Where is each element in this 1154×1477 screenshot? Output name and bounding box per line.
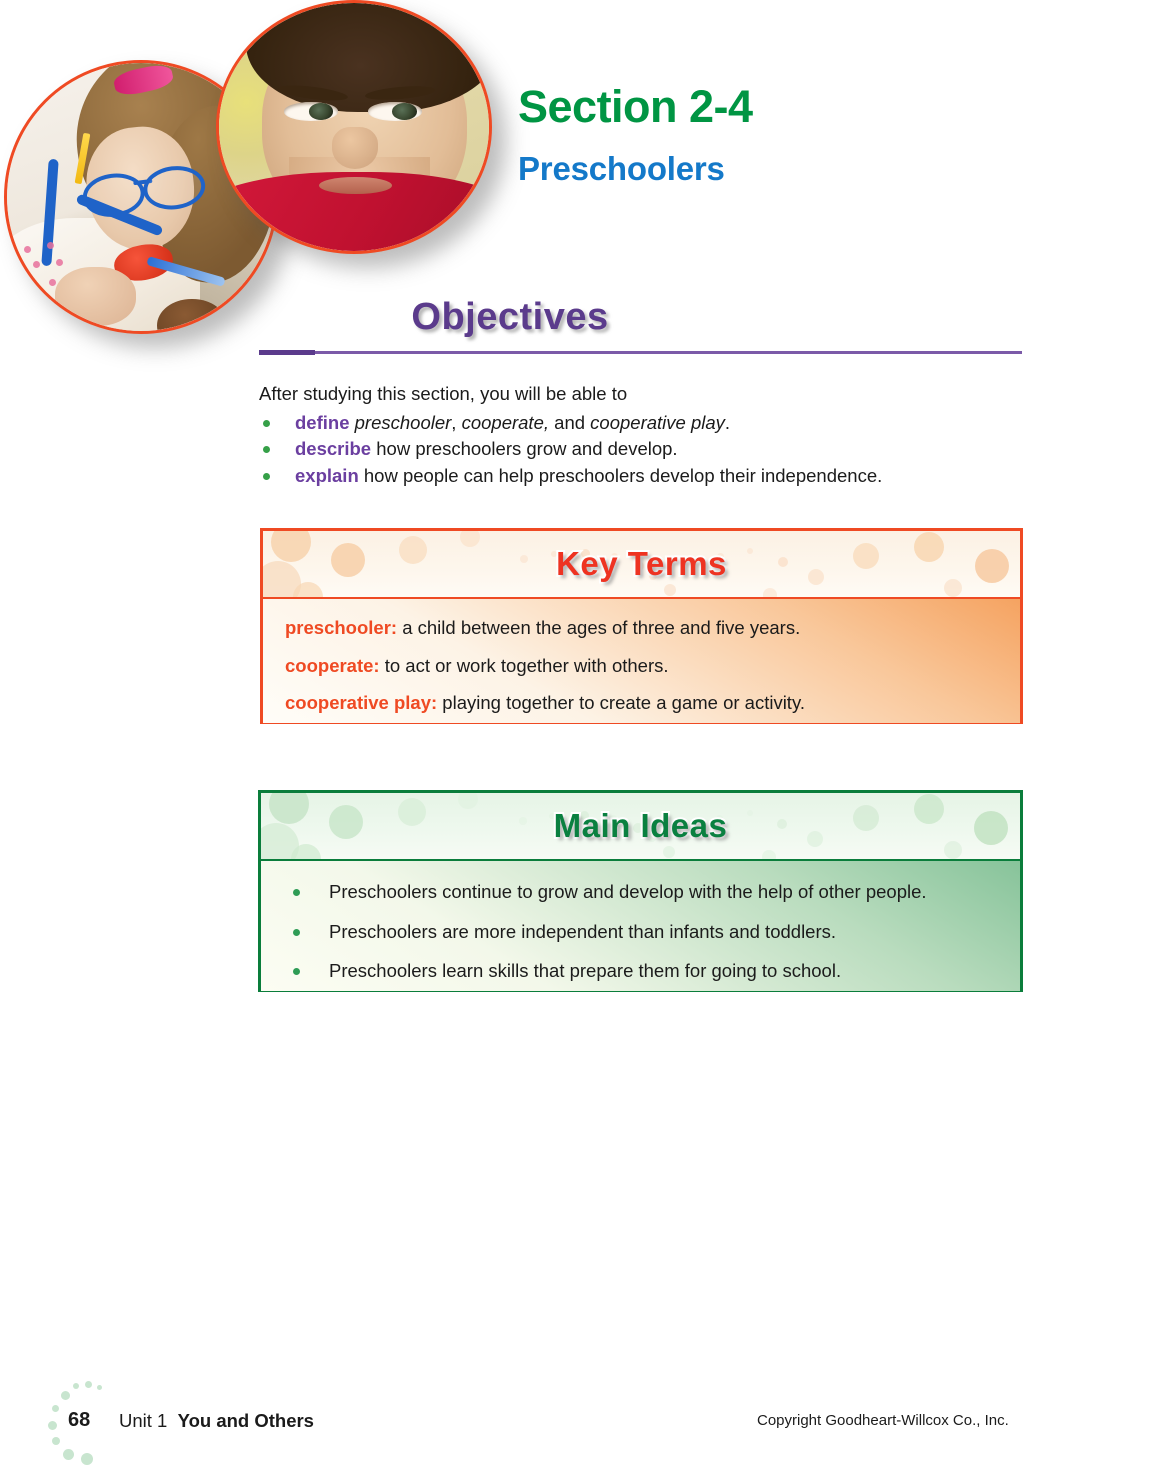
key-term-entry: preschooler: a child between the ages of… <box>285 619 1020 638</box>
key-term-word: cooperative play: <box>285 692 437 713</box>
objective-item: describe how preschoolers grow and devel… <box>259 436 1019 463</box>
objectives-heading: Objectives <box>0 296 1020 339</box>
key-term-definition: a child between the ages of three and fi… <box>397 617 800 638</box>
footer-unit: Unit 1 You and Others <box>119 1410 314 1432</box>
objective-sep: and <box>549 412 590 433</box>
main-idea-item: Preschoolers are more independent than i… <box>261 923 1020 942</box>
key-terms-header: Key Terms <box>263 531 1020 599</box>
objectives-rule-accent <box>259 350 315 355</box>
main-idea-item: Preschoolers learn skills that prepare t… <box>261 962 1020 981</box>
main-ideas-title: Main Ideas <box>554 807 728 845</box>
bullet-icon <box>293 929 300 936</box>
main-idea-item: Preschoolers continue to grow and develo… <box>261 883 1020 902</box>
objective-verb: explain <box>295 465 359 486</box>
key-terms-title: Key Terms <box>556 545 727 583</box>
objectives-intro: After studying this section, you will be… <box>259 381 1019 407</box>
bullet-icon <box>263 473 270 480</box>
key-terms-box: Key Terms preschooler: a child between t… <box>260 528 1023 724</box>
main-ideas-body: Preschoolers continue to grow and develo… <box>261 861 1020 991</box>
bullet-icon <box>293 968 300 975</box>
objective-text: how people can help preschoolers develop… <box>359 465 883 486</box>
objectives-list: define preschooler, cooperate, and coope… <box>259 410 1019 490</box>
photo-cluster <box>0 0 520 400</box>
objective-verb: describe <box>295 438 371 459</box>
bullet-icon <box>263 420 270 427</box>
footer-copyright: Copyright Goodheart-Willcox Co., Inc. <box>757 1412 1009 1429</box>
objective-term: preschooler <box>355 412 452 433</box>
objective-term: cooperate, <box>462 412 549 433</box>
objective-verb: define <box>295 412 349 433</box>
bullet-icon <box>293 889 300 896</box>
footer-unit-title: You and Others <box>178 1410 314 1431</box>
objective-item: define preschooler, cooperate, and coope… <box>259 410 1019 437</box>
footer-unit-label: Unit 1 <box>119 1410 167 1431</box>
key-term-word: cooperate: <box>285 655 380 676</box>
objective-term: cooperative play <box>590 412 725 433</box>
objectives-rule <box>315 351 1022 354</box>
boy-face-photo <box>216 0 492 254</box>
objective-text: how preschoolers grow and develop. <box>371 438 677 459</box>
key-term-definition: to act or work together with others. <box>380 655 669 676</box>
key-term-word: preschooler: <box>285 617 397 638</box>
key-term-definition: playing together to create a game or act… <box>437 692 805 713</box>
main-idea-text: Preschoolers are more independent than i… <box>329 921 836 942</box>
main-ideas-box: Main Ideas Preschoolers continue to grow… <box>258 790 1023 992</box>
key-terms-body: preschooler: a child between the ages of… <box>263 599 1020 723</box>
key-term-entry: cooperate: to act or work together with … <box>285 657 1020 676</box>
section-title: Section 2-4 <box>518 84 753 129</box>
page-number: 68 <box>68 1409 90 1432</box>
objectives-body: After studying this section, you will be… <box>259 381 1019 490</box>
key-term-entry: cooperative play: playing together to cr… <box>285 694 1020 713</box>
bullet-icon <box>263 446 270 453</box>
main-idea-text: Preschoolers learn skills that prepare t… <box>329 960 841 981</box>
objective-sep: . <box>725 412 730 433</box>
objectives-title: Objectives <box>411 296 608 339</box>
objective-item: explain how people can help preschoolers… <box>259 463 1019 490</box>
section-subtitle: Preschoolers <box>518 152 725 185</box>
objective-text: preschooler, cooperate, and cooperative … <box>349 412 730 433</box>
objective-sep: , <box>451 412 461 433</box>
main-ideas-header: Main Ideas <box>261 793 1020 861</box>
main-idea-text: Preschoolers continue to grow and develo… <box>329 881 927 902</box>
